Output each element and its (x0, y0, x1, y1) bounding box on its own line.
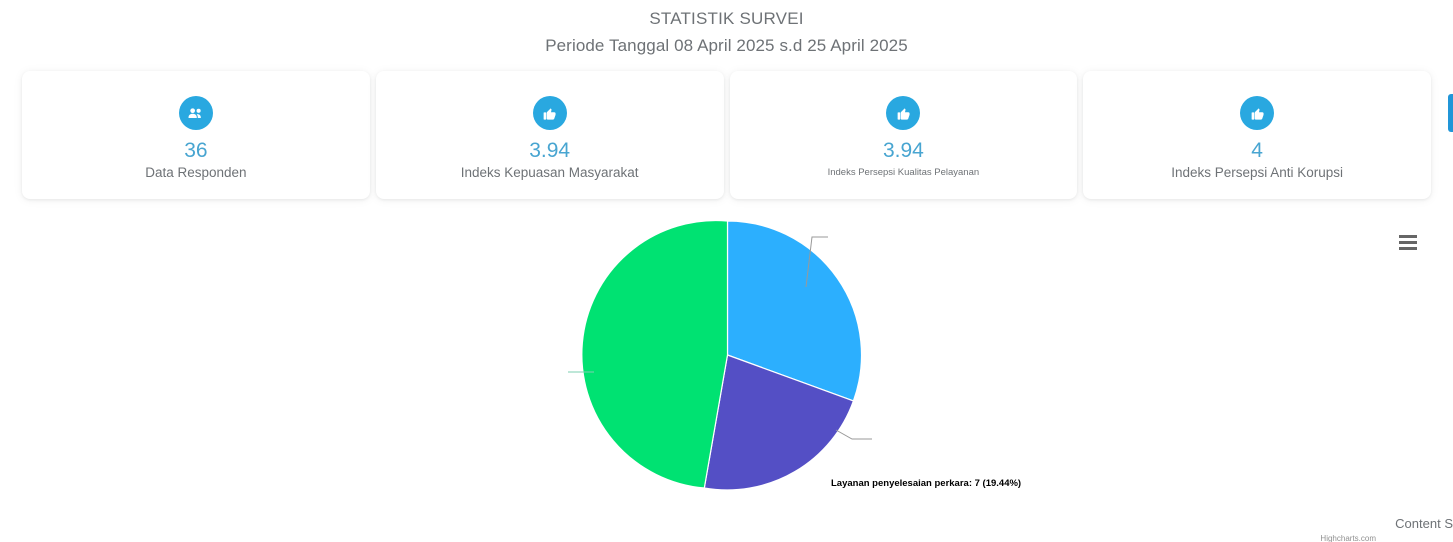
stat-value: 4 (1251, 139, 1263, 163)
users-icon (179, 96, 213, 130)
thumbs-up-icon (1240, 96, 1274, 130)
content-credit-text: Content S (1395, 516, 1453, 531)
statistics-cards-row: 36 Data Responden 3.94 Indeks Kepuasan M… (0, 71, 1453, 199)
stat-value: 36 (184, 139, 207, 163)
stat-label: Indeks Persepsi Kualitas Pelayanan (828, 164, 980, 181)
pie-data-label-perkara: Layanan penyelesaian perkara: 7 (19.44%) (831, 478, 1021, 490)
stat-card-indeks-kepuasan-masyarakat[interactable]: 3.94 Indeks Kepuasan Masyarakat (376, 71, 724, 199)
pie-chart (0, 217, 1453, 542)
stat-value: 3.94 (883, 139, 924, 163)
thumbs-up-icon (533, 96, 567, 130)
stat-label: Data Responden (145, 164, 246, 181)
connector-line-pengadilan (836, 430, 872, 439)
survey-statistics-page: STATISTIK SURVEI Periode Tanggal 08 Apri… (0, 0, 1453, 542)
stat-card-indeks-persepsi-kualitas-pelayanan[interactable]: 3.94 Indeks Persepsi Kualitas Pelayanan (730, 71, 1078, 199)
thumbs-up-icon (886, 96, 920, 130)
highcharts-credit-link[interactable]: Highcharts.com (1320, 534, 1376, 542)
pie-slice-informasi (582, 220, 728, 488)
stat-label: Indeks Persepsi Anti Korupsi (1171, 164, 1343, 181)
page-subtitle-period: Periode Tanggal 08 April 2025 s.d 25 Apr… (0, 33, 1453, 59)
stat-value: 3.94 (529, 139, 570, 163)
stat-card-indeks-persepsi-anti-korupsi[interactable]: 4 Indeks Persepsi Anti Korupsi (1083, 71, 1431, 199)
page-title: STATISTIK SURVEI (0, 8, 1453, 30)
stat-card-data-responden[interactable]: 36 Data Responden (22, 71, 370, 199)
stat-label: Indeks Kepuasan Masyarakat (461, 164, 639, 181)
page-header: STATISTIK SURVEI Periode Tanggal 08 Apri… (0, 0, 1453, 59)
chart-panel: Jenis Layanan (0, 217, 1453, 542)
right-edge-drawer-handle[interactable] (1448, 94, 1453, 132)
